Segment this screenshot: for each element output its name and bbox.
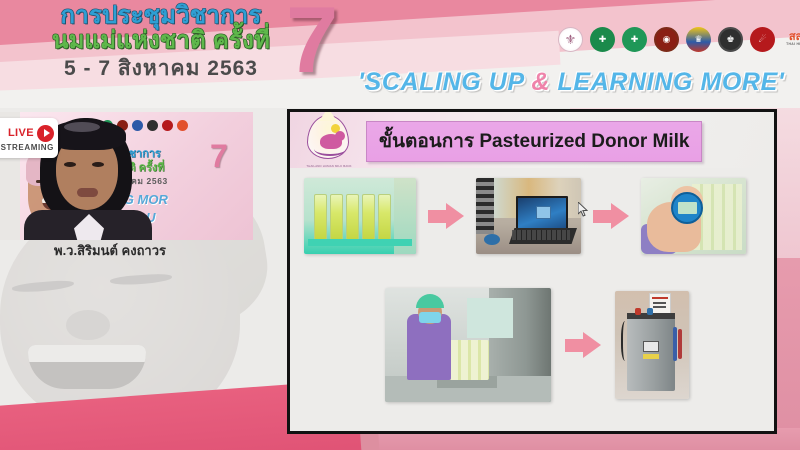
milk-bottles-rack-photo [304,178,416,254]
speaker-hair-highlight [64,122,100,132]
milk-drop-baby-head [335,131,345,141]
conference-tagline: 'SCALING UP & LEARNING MORE' [358,68,784,97]
process-row-bottom [385,288,689,402]
royal-college-logo: ◉ [654,27,679,52]
poster-edition-number: 7 [210,138,228,175]
nursing-council-logo: ♚ [718,27,743,52]
nurse-loading-bottles-photo [385,288,551,402]
conference-title-line2: นมแม่แห่งชาติ ครั้งที่ [26,29,296,54]
organization-logos-row: ⚜ ✚ ✚ ◉ ♛ ♚ ☄ สสส THAI HEALTH [558,27,800,52]
conference-date: 5 - 7 สิงหาคม 2563 [26,58,296,80]
slide-title-banner: ขั้นตอนการ Pasteurized Donor Milk [366,121,702,162]
poster-logo-7 [162,120,173,131]
mouse-cursor-icon [578,202,589,217]
medical-council-logo: ☄ [750,27,775,52]
laptop-workstation-photo [476,178,581,254]
thaihealth-sss-logo: สสส THAI HEALTH [782,27,800,52]
speaker-mouth [77,188,98,197]
watermark-nose [66,310,110,340]
process-row-top [304,178,746,254]
arrow-right-3 [565,332,601,358]
conference-header: การประชุมวิชาการ นมแม่แห่งชาติ ครั้งที่ … [0,0,800,108]
department-of-health-logo: ✚ [622,27,647,52]
hand-timer-photo [641,178,746,254]
poster-logo-6 [147,120,158,131]
poster-logo-8 [177,120,188,131]
slide-panel: THAILAND HUMAN MILK BANK ขั้นตอนการ Past… [287,109,777,434]
slide-title: ขั้นตอนการ Pasteurized Donor Milk [379,126,689,156]
tagline-ampersand: & [531,68,550,96]
tagline-prefix: 'SCALING UP [358,68,531,96]
speaker-video-feed[interactable]: การประชุมวิชาการ นมแม่แห่งชาติ ครั้งที่ … [0,112,253,240]
milk-drop-shape [307,115,349,159]
play-icon [37,125,54,142]
conference-title-block: การประชุมวิชาการ นมแม่แห่งชาติ ครั้งที่ … [26,4,296,80]
slide-body [290,168,774,431]
thai-breastfeeding-foundation-logo: ⚜ [558,27,583,52]
arrow-right-2 [593,203,629,229]
conference-title-line1: การประชุมวิชาการ [26,4,296,29]
thaihealth-sss-subtext: THAI HEALTH [786,43,800,46]
watermark-mouth [28,345,146,389]
human-milk-bank-logo: THAILAND HUMAN MILK BANK [301,114,355,166]
speaker-eye-left [64,162,76,167]
arrow-right-1 [428,203,464,229]
presentation-screen: การประชุมวิชาการ นมแม่แห่งชาติ ครั้งที่ … [0,0,800,450]
tagline-suffix: LEARNING MORE' [550,68,784,96]
edition-number: 7 [286,0,338,94]
pasteurizer-machine-photo [615,291,689,399]
university-emblem-logo: ♛ [686,27,711,52]
live-label: LIVE [8,127,34,139]
speaker-name: พ.ว.สิริมนต์ คงถาวร [54,240,166,261]
milk-drop-arm [314,142,346,156]
live-streaming-badge: LIVE STREAMING [0,118,58,158]
slide-header: THAILAND HUMAN MILK BANK ขั้นตอนการ Past… [290,112,774,168]
streaming-label: STREAMING [1,143,54,152]
speaker-eye-right [92,162,104,167]
ministry-of-public-health-logo: ✚ [590,27,615,52]
